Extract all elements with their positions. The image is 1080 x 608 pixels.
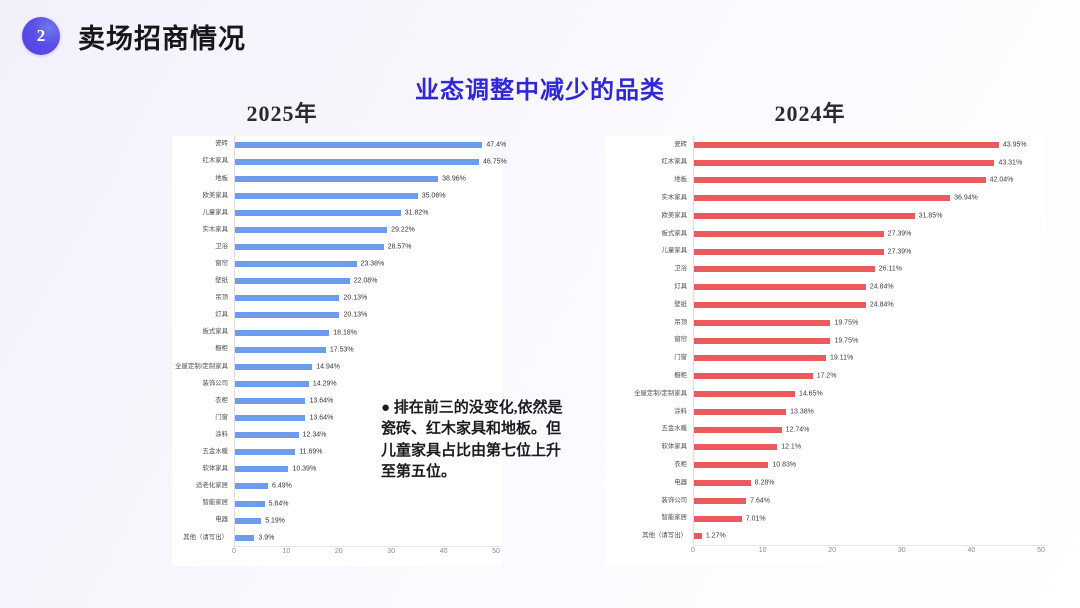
x-axis-tick: 20 — [828, 547, 836, 554]
bar-value-label: 7.64% — [746, 497, 770, 504]
bar — [693, 195, 950, 201]
bar-row: 智能家居5.84% — [172, 495, 502, 512]
bar-track: 5.84% — [234, 495, 502, 512]
bar-value-label: 43.95% — [999, 141, 1027, 148]
bar-value-label: 22.08% — [350, 278, 378, 285]
bar — [693, 444, 777, 450]
bar — [234, 159, 479, 165]
bar-row: 软体家具12.1% — [605, 439, 1045, 457]
bar-row: 卫浴26.11% — [605, 261, 1045, 279]
bar-row: 五金水暖12.74% — [605, 421, 1045, 439]
bar-row: 全屋定制/定制家具14.65% — [605, 385, 1045, 403]
bar-value-label: 36.94% — [950, 195, 978, 202]
bar-category-label: 电器 — [605, 480, 693, 486]
bar-track: 10.83% — [693, 456, 1045, 474]
y-axis-line — [693, 136, 694, 545]
bar — [234, 142, 482, 148]
bar-value-label: 18.18% — [329, 329, 357, 336]
bar-row: 壁纸24.84% — [605, 296, 1045, 314]
section-number-badge: 2 — [22, 17, 60, 55]
bar-category-label: 灯具 — [605, 284, 693, 290]
bar — [234, 176, 438, 182]
bar-track: 7.64% — [693, 492, 1045, 510]
bar-row: 红木家具43.31% — [605, 154, 1045, 172]
bar-value-label: 31.82% — [401, 209, 429, 216]
bar-category-label: 五金水暖 — [605, 426, 693, 432]
bar-track: 29.22% — [234, 221, 502, 238]
chart-panel-2024: 2024年 瓷砖43.95%红木家具43.31%地板42.04%实木家具36.9… — [560, 96, 1060, 596]
bar — [693, 480, 751, 486]
bar-value-label: 13.64% — [305, 397, 333, 404]
bar — [234, 227, 387, 233]
bar-category-label: 儿童家具 — [172, 210, 234, 216]
bar-track: 35.06% — [234, 187, 502, 204]
x-axis-tick: 10 — [759, 547, 767, 554]
bar-category-label: 壁纸 — [605, 302, 693, 308]
bar-row: 地板42.04% — [605, 172, 1045, 190]
x-axis-line — [693, 545, 1045, 546]
bar-category-label: 欧美家具 — [605, 213, 693, 219]
bar-value-label: 19.11% — [826, 355, 853, 362]
bar-value-label: 14.65% — [795, 391, 823, 398]
bar-value-label: 35.06% — [418, 192, 446, 199]
bar-rows-2025: 瓷砖47.4%红木家具46.75%地板38.96%欧美家具35.06%儿童家具3… — [172, 136, 502, 546]
bar-track: 1.27% — [693, 528, 1045, 546]
bar — [234, 415, 305, 421]
bar-track: 20.13% — [234, 290, 502, 307]
bar-category-label: 瓷砖 — [605, 142, 693, 148]
bar-value-label: 5.84% — [265, 500, 289, 507]
bar-category-label: 衣柜 — [605, 462, 693, 468]
bar — [234, 347, 326, 353]
bar-track: 26.11% — [693, 261, 1045, 279]
bar-track: 38.96% — [234, 170, 502, 187]
bar-value-label: 3.9% — [254, 534, 274, 541]
bar-category-label: 五金水暖 — [172, 449, 234, 455]
bar-track: 14.65% — [693, 385, 1045, 403]
bar-track: 31.85% — [693, 207, 1045, 225]
x-axis-tick: 0 — [691, 547, 695, 554]
bar-value-label: 12.1% — [777, 444, 801, 451]
bar-category-label: 板式家具 — [605, 231, 693, 237]
bar-value-label: 1.27% — [702, 533, 726, 540]
bar — [234, 381, 309, 387]
bar-row: 其他（请写出）1.27% — [605, 528, 1045, 546]
bar-value-label: 27.39% — [884, 230, 912, 237]
bar-category-label: 板式家具 — [172, 329, 234, 335]
bar-track: 43.31% — [693, 154, 1045, 172]
bar — [693, 516, 742, 522]
bar — [234, 295, 339, 301]
bar-track: 18.18% — [234, 324, 502, 341]
bar-category-label: 涂料 — [172, 432, 234, 438]
bar — [693, 302, 866, 308]
bar-track: 19.75% — [693, 332, 1045, 350]
bar-value-label: 7.01% — [742, 515, 766, 522]
bar — [234, 483, 268, 489]
chart-title-2025: 2025年 — [22, 96, 542, 128]
x-axis-2024: 01020304050 — [605, 545, 1045, 559]
x-axis-tick: 0 — [232, 548, 236, 555]
bar — [693, 409, 786, 415]
bar-category-label: 智能家居 — [172, 500, 234, 506]
bar — [234, 330, 329, 336]
bar — [693, 391, 795, 397]
bar-category-label: 涂料 — [605, 409, 693, 415]
bar-category-label: 全屋定制/定制家具 — [172, 364, 234, 370]
bar-category-label: 吊顶 — [172, 295, 234, 301]
x-axis-tick: 50 — [492, 548, 500, 555]
bar-row: 智能家居7.01% — [605, 510, 1045, 528]
bar-value-label: 19.75% — [830, 319, 858, 326]
bar — [234, 261, 357, 267]
bar — [693, 213, 915, 219]
bar-track: 24.84% — [693, 278, 1045, 296]
bar-track: 43.95% — [693, 136, 1045, 154]
bar — [234, 466, 288, 472]
bar-value-label: 13.38% — [786, 408, 814, 415]
bar-track: 36.94% — [693, 189, 1045, 207]
bar-category-label: 实木家具 — [605, 195, 693, 201]
bar-track: 5.19% — [234, 512, 502, 529]
bar-row: 电器8.28% — [605, 474, 1045, 492]
bar-row: 电器5.19% — [172, 512, 502, 529]
bar-value-label: 24.84% — [866, 302, 894, 309]
chart-panel-2025: 2025年 瓷砖47.4%红木家具46.75%地板38.96%欧美家具35.06… — [22, 96, 542, 596]
bar-category-label: 门窗 — [172, 415, 234, 421]
bar-value-label: 29.22% — [387, 227, 415, 234]
bar-row: 实木家具29.22% — [172, 221, 502, 238]
bar — [693, 284, 866, 290]
bar-value-label: 47.4% — [482, 141, 506, 148]
x-axis-tick: 10 — [282, 548, 290, 555]
bar-value-label: 46.75% — [479, 158, 507, 165]
bar-category-label: 壁纸 — [172, 278, 234, 284]
bar — [234, 535, 254, 541]
bar-row: 装饰公司7.64% — [605, 492, 1045, 510]
bar-value-label: 11.69% — [295, 449, 322, 456]
bar — [693, 266, 875, 272]
bar-category-label: 卫浴 — [605, 266, 693, 272]
bar-row: 窗帘19.75% — [605, 332, 1045, 350]
bar-category-label: 其他（请写出） — [172, 535, 234, 541]
bar-row: 实木家具36.94% — [605, 189, 1045, 207]
bar-category-label: 其他（请写出） — [605, 533, 693, 539]
bar — [693, 160, 994, 166]
bar-category-label: 门窗 — [605, 355, 693, 361]
bar-track: 27.39% — [693, 225, 1045, 243]
bar-track: 42.04% — [693, 172, 1045, 190]
bar-category-label: 实木家具 — [172, 227, 234, 233]
x-axis-2025: 01020304050 — [172, 546, 502, 560]
bar-value-label: 17.2% — [813, 373, 837, 380]
bar-value-label: 14.94% — [312, 363, 340, 370]
bar-row: 灯具24.84% — [605, 278, 1045, 296]
bar-category-label: 窗帘 — [172, 261, 234, 267]
bar-row: 窗帘23.38% — [172, 256, 502, 273]
x-axis-tick: 40 — [440, 548, 448, 555]
bar-category-label: 瓷砖 — [172, 141, 234, 147]
bar-row: 卫浴28.57% — [172, 239, 502, 256]
bar-track: 28.57% — [234, 239, 502, 256]
bar — [234, 501, 265, 507]
bar-track: 19.75% — [693, 314, 1045, 332]
bar-value-label: 17.53% — [326, 346, 354, 353]
bar — [234, 278, 350, 284]
bar — [234, 449, 295, 455]
bar-category-label: 地板 — [172, 176, 234, 182]
bar-value-label: 13.64% — [305, 415, 333, 422]
bar-row: 红木家具46.75% — [172, 153, 502, 170]
bar-track: 27.39% — [693, 243, 1045, 261]
bar-track: 22.08% — [234, 273, 502, 290]
bar-value-label: 20.13% — [339, 295, 367, 302]
bar-track: 47.4% — [234, 136, 502, 153]
bar-category-label: 红木家具 — [172, 158, 234, 164]
insight-annotation: ● 排在前三的没变化,依然是瓷砖、红木家具和地板。但儿童家具占比由第七位上升至第… — [381, 398, 566, 483]
bar-value-label: 26.11% — [875, 266, 902, 273]
bar-track: 12.74% — [693, 421, 1045, 439]
bar — [234, 398, 305, 404]
bar — [693, 498, 746, 504]
bar-value-label: 19.75% — [830, 337, 858, 344]
bar-category-label: 橱柜 — [605, 373, 693, 379]
bar-value-label: 8.28% — [751, 480, 775, 487]
bar-category-label: 装饰公司 — [172, 381, 234, 387]
bar — [693, 462, 768, 468]
bar-value-label: 12.74% — [782, 426, 810, 433]
bar-category-label: 装饰公司 — [605, 498, 693, 504]
bar-rows-2024: 瓷砖43.95%红木家具43.31%地板42.04%实木家具36.94%欧美家具… — [605, 136, 1045, 545]
bar-value-label: 5.19% — [261, 517, 285, 524]
bar-track: 46.75% — [234, 153, 502, 170]
page-title: 卖场招商情况 — [78, 17, 246, 56]
bar-row: 儿童家具27.39% — [605, 243, 1045, 261]
bar-row: 瓷砖47.4% — [172, 136, 502, 153]
bar — [693, 249, 884, 255]
bar-chart-2024: 瓷砖43.95%红木家具43.31%地板42.04%实木家具36.94%欧美家具… — [605, 136, 1045, 566]
bar-track: 17.53% — [234, 341, 502, 358]
bar — [693, 338, 830, 344]
x-axis-tick: 40 — [967, 547, 975, 554]
bar — [693, 355, 826, 361]
bar-row: 装饰公司14.29% — [172, 375, 502, 392]
bar-row: 门窗19.11% — [605, 350, 1045, 368]
bar-track: 19.11% — [693, 350, 1045, 368]
bar-category-label: 橱柜 — [172, 346, 234, 352]
bar-track: 23.38% — [234, 256, 502, 273]
bar — [693, 177, 986, 183]
bar-track: 31.82% — [234, 204, 502, 221]
bar-track: 14.94% — [234, 358, 502, 375]
bar — [693, 320, 830, 326]
bar — [234, 244, 384, 250]
bar-value-label: 28.57% — [384, 244, 412, 251]
bar-track: 3.9% — [234, 529, 502, 546]
bar-category-label: 电器 — [172, 517, 234, 523]
bar — [234, 518, 261, 524]
bar-value-label: 24.84% — [866, 284, 894, 291]
bar-value-label: 20.13% — [339, 312, 367, 319]
bar-row: 衣柜10.83% — [605, 456, 1045, 474]
bar-category-label: 适老化家居 — [172, 483, 234, 489]
bar-row: 全屋定制/定制家具14.94% — [172, 358, 502, 375]
bar-track: 12.1% — [693, 439, 1045, 457]
y-axis-line — [234, 136, 235, 546]
bar-row: 欧美家具31.85% — [605, 207, 1045, 225]
bar — [693, 533, 702, 539]
bar-row: 瓷砖43.95% — [605, 136, 1045, 154]
bar — [693, 427, 782, 433]
page-header: 2 卖场招商情况 — [0, 0, 1080, 72]
bar-value-label: 10.83% — [768, 462, 796, 469]
bar — [234, 312, 339, 318]
bar-value-label: 10.39% — [288, 466, 316, 473]
bar-category-label: 软体家具 — [605, 444, 693, 450]
bar-track: 13.38% — [693, 403, 1045, 421]
bar-row: 壁纸22.08% — [172, 273, 502, 290]
bar-value-label: 42.04% — [986, 177, 1014, 184]
bar-value-label: 14.29% — [309, 380, 337, 387]
bar-row: 板式家具27.39% — [605, 225, 1045, 243]
bar-category-label: 地板 — [605, 177, 693, 183]
bar — [234, 364, 312, 370]
bar-value-label: 43.31% — [994, 159, 1022, 166]
bar-category-label: 红木家具 — [605, 159, 693, 165]
x-axis-tick: 20 — [335, 548, 343, 555]
bar-chart-2025: 瓷砖47.4%红木家具46.75%地板38.96%欧美家具35.06%儿童家具3… — [172, 136, 502, 566]
bar-row: 灯具20.13% — [172, 307, 502, 324]
bar-value-label: 31.85% — [915, 213, 943, 220]
bar-value-label: 23.38% — [357, 261, 385, 268]
bar-value-label: 6.49% — [268, 483, 292, 490]
bar-row: 吊顶19.75% — [605, 314, 1045, 332]
bar-track: 14.29% — [234, 375, 502, 392]
bar-value-label: 38.96% — [438, 175, 466, 182]
x-axis-tick: 30 — [387, 548, 395, 555]
bar — [234, 193, 418, 199]
bar-track: 20.13% — [234, 307, 502, 324]
bar — [234, 210, 401, 216]
bar — [693, 373, 813, 379]
bar-row: 地板38.96% — [172, 170, 502, 187]
bar — [693, 142, 999, 148]
bar-value-label: 27.39% — [884, 248, 912, 255]
bar-category-label: 全屋定制/定制家具 — [605, 391, 693, 397]
bar — [693, 231, 884, 237]
chart-title-2024: 2024年 — [560, 96, 1060, 128]
bar-category-label: 欧美家具 — [172, 193, 234, 199]
bar-category-label: 儿童家具 — [605, 248, 693, 254]
bar-track: 8.28% — [693, 474, 1045, 492]
bar — [234, 432, 299, 438]
x-axis-tick: 30 — [898, 547, 906, 554]
bar-value-label: 12.34% — [299, 432, 327, 439]
bar-category-label: 卫浴 — [172, 244, 234, 250]
bar-category-label: 智能家居 — [605, 515, 693, 521]
bar-row: 板式家具18.18% — [172, 324, 502, 341]
bar-row: 其他（请写出）3.9% — [172, 529, 502, 546]
bar-track: 7.01% — [693, 510, 1045, 528]
bar-row: 涂料13.38% — [605, 403, 1045, 421]
bar-row: 橱柜17.2% — [605, 367, 1045, 385]
bar-row: 橱柜17.53% — [172, 341, 502, 358]
bar-track: 24.84% — [693, 296, 1045, 314]
x-axis-line — [234, 546, 502, 547]
bar-track: 17.2% — [693, 367, 1045, 385]
bar-category-label: 软体家具 — [172, 466, 234, 472]
bar-category-label: 衣柜 — [172, 398, 234, 404]
bar-row: 吊顶20.13% — [172, 290, 502, 307]
bar-category-label: 吊顶 — [605, 320, 693, 326]
x-axis-tick: 50 — [1037, 547, 1045, 554]
bar-category-label: 窗帘 — [605, 337, 693, 343]
bar-row: 儿童家具31.82% — [172, 204, 502, 221]
bar-row: 欧美家具35.06% — [172, 187, 502, 204]
bar-category-label: 灯具 — [172, 312, 234, 318]
